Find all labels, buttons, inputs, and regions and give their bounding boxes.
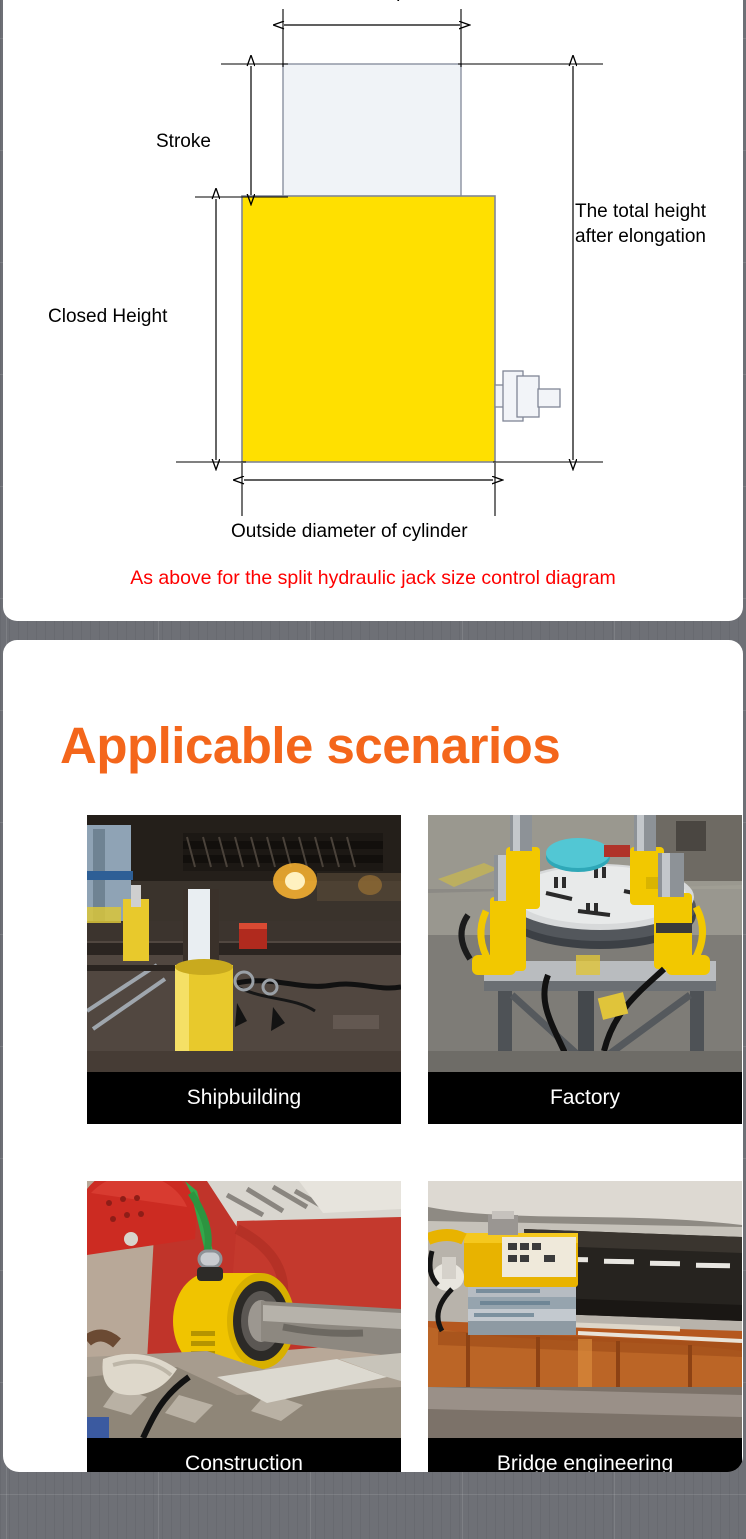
label-stroke: Stroke bbox=[156, 129, 211, 154]
scenario-caption-factory: Factory bbox=[428, 1072, 742, 1124]
page-root: Outside diameter of piston Stroke Closed… bbox=[0, 0, 746, 1539]
bridge-engineering-photo bbox=[428, 1181, 742, 1438]
hydraulic-port-fitting bbox=[495, 371, 560, 421]
diagram-caption: As above for the split hydraulic jack si… bbox=[3, 567, 743, 590]
label-outside-diameter-cylinder: Outside diameter of cylinder bbox=[231, 519, 468, 544]
scenario-caption-shipbuilding: Shipbuilding bbox=[87, 1072, 401, 1124]
shipbuilding-photo bbox=[87, 815, 401, 1072]
scenarios-panel: Applicable scenarios bbox=[3, 640, 743, 1472]
scenario-tile-shipbuilding[interactable]: Shipbuilding bbox=[87, 815, 401, 1124]
scenario-tile-factory[interactable]: Factory bbox=[428, 815, 742, 1124]
scenario-tile-grid: Shipbuilding bbox=[47, 799, 702, 1472]
label-total-height-after-elongation: The total height after elongation bbox=[575, 199, 743, 249]
scenario-caption-bridge-engineering: Bridge engineering bbox=[428, 1438, 742, 1472]
piston-body bbox=[283, 64, 461, 197]
construction-photo bbox=[87, 1181, 401, 1438]
label-closed-height: Closed Height bbox=[48, 304, 167, 329]
cylinder-body bbox=[242, 196, 495, 462]
hydraulic-jack-dimension-diagram: Outside diameter of piston Stroke Closed… bbox=[3, 0, 743, 621]
scenario-tile-construction[interactable]: Construction bbox=[87, 1181, 401, 1472]
scenarios-title: Applicable scenarios bbox=[60, 718, 560, 774]
diagram-panel: Outside diameter of piston Stroke Closed… bbox=[3, 0, 743, 621]
factory-photo bbox=[428, 815, 742, 1072]
label-outside-diameter-piston: Outside diameter of piston bbox=[225, 0, 447, 4]
scenario-tile-bridge-engineering[interactable]: Bridge engineering bbox=[428, 1181, 742, 1472]
scenario-caption-construction: Construction bbox=[87, 1438, 401, 1472]
